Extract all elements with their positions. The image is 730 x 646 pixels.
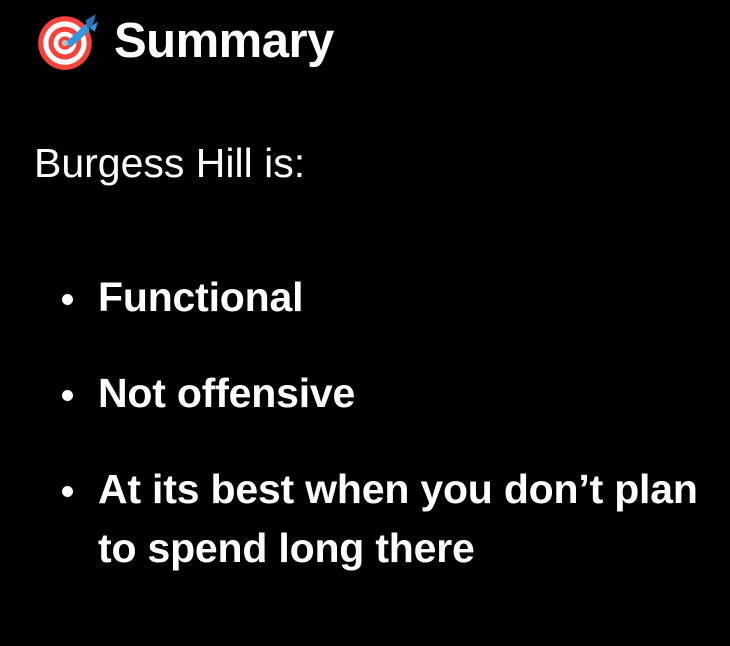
bullet-dot-icon <box>62 486 73 497</box>
slide-title: Summary <box>34 8 334 74</box>
bullet-text: Not offensive <box>98 364 355 422</box>
bullet-text: At its best when you don’t plan to spend… <box>98 460 724 576</box>
summary-slide: Summary Burgess Hill is: Functional Not … <box>0 0 730 646</box>
lead-text: Burgess Hill is: <box>34 140 305 187</box>
list-item: Not offensive <box>34 364 724 422</box>
bullet-dot-icon <box>62 294 73 305</box>
bullet-dot-icon <box>62 390 73 401</box>
bullet-list: Functional Not offensive At its best whe… <box>34 268 724 577</box>
list-item: At its best when you don’t plan to spend… <box>34 460 724 576</box>
list-item: Functional <box>34 268 724 326</box>
bullet-text: Functional <box>98 268 303 326</box>
slide-title-label: Summary <box>114 17 334 66</box>
dart-target-icon <box>34 8 100 74</box>
